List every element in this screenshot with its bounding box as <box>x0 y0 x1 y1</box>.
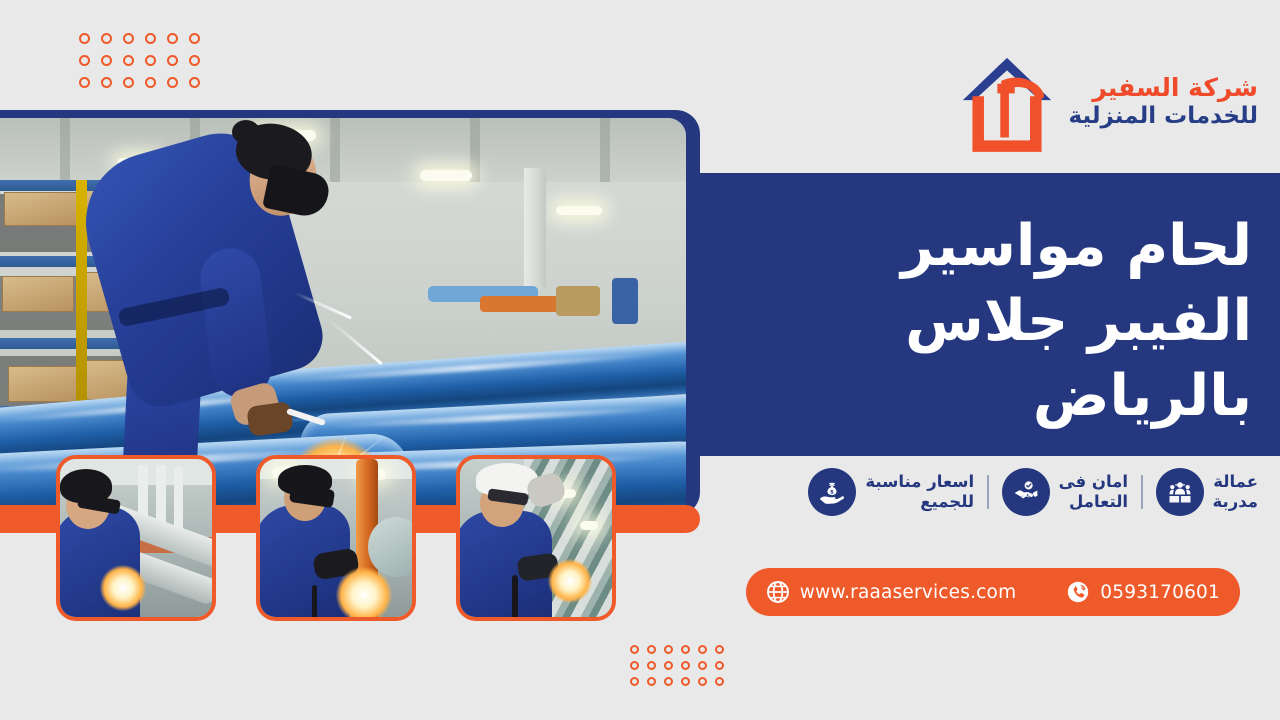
thumb-cable <box>312 585 317 621</box>
dot <box>79 55 90 66</box>
brand-name-primary: شركة السفير <box>1069 74 1259 102</box>
feature-label: اسعار مناسبة للجميع <box>865 472 974 512</box>
feature-safe-dealing: امان فى التعامل <box>1002 468 1128 516</box>
brand-logo[interactable]: شركة السفير للخدمات المنزلية <box>959 52 1259 152</box>
dot <box>145 33 156 44</box>
handshake-check-icon <box>1002 468 1050 516</box>
dot <box>167 55 178 66</box>
equipment <box>612 278 638 324</box>
thumb-spark <box>548 559 592 603</box>
dot <box>681 661 690 670</box>
dot <box>664 645 673 654</box>
equipment <box>556 286 600 316</box>
phone-number: 0593170601 <box>1100 582 1220 603</box>
ceiling-lamp <box>556 206 602 215</box>
decorative-dot-grid-top-left <box>68 33 200 99</box>
features-row: عمالة مدربة امان فى التعامل <box>808 468 1258 516</box>
phone-ringing-icon <box>1066 580 1090 604</box>
dot <box>647 645 656 654</box>
dot <box>167 33 178 44</box>
globe-icon <box>766 580 790 604</box>
headline-panel: لحام مواسير الفيبر جلاس بالرياض <box>700 173 1280 456</box>
dot <box>79 33 90 44</box>
dot <box>145 55 156 66</box>
ceiling-beam <box>60 118 70 182</box>
page-title: لحام مواسير الفيبر جلاس بالرياض <box>718 209 1252 435</box>
dot <box>189 55 200 66</box>
feature-trained-workforce: عمالة مدربة <box>1156 468 1258 516</box>
thumb-spark <box>336 567 392 621</box>
thumbnail-1[interactable] <box>56 455 216 621</box>
feature-fair-prices: اسعار مناسبة للجميع $ <box>808 468 974 516</box>
dot <box>101 77 112 88</box>
brand-logo-text: شركة السفير للخدمات المنزلية <box>1069 74 1259 130</box>
dot <box>630 661 639 670</box>
dot <box>123 33 134 44</box>
cardboard-box <box>8 366 78 402</box>
ceiling-beam <box>330 118 340 182</box>
thumb-pipe-flange <box>368 517 416 577</box>
dot <box>630 677 639 686</box>
dot <box>715 677 724 686</box>
feature-separator <box>1141 475 1143 509</box>
dot <box>189 77 200 88</box>
thumb-window <box>174 467 183 529</box>
dot <box>715 661 724 670</box>
dot <box>123 55 134 66</box>
hand-money-icon: $ <box>808 468 856 516</box>
ceiling-lamp <box>420 170 472 181</box>
feature-label: امان فى التعامل <box>1059 472 1128 512</box>
brand-name-secondary: للخدمات المنزلية <box>1069 104 1259 130</box>
svg-text:$: $ <box>831 489 835 495</box>
dot <box>189 33 200 44</box>
website-url: www.raaaservices.com <box>800 582 1017 603</box>
thumb-cable <box>512 575 518 621</box>
cardboard-box <box>2 276 74 312</box>
dot <box>698 661 707 670</box>
phone-contact[interactable]: 0593170601 <box>1066 580 1220 604</box>
website-contact[interactable]: www.raaaservices.com <box>766 580 1017 604</box>
dot <box>123 77 134 88</box>
dot <box>681 645 690 654</box>
dot <box>664 677 673 686</box>
workers-team-icon <box>1156 468 1204 516</box>
ceiling <box>0 118 686 182</box>
dot <box>681 677 690 686</box>
dot <box>167 77 178 88</box>
cardboard-box <box>4 192 78 226</box>
dot <box>101 55 112 66</box>
dot <box>698 645 707 654</box>
dot <box>664 661 673 670</box>
dot <box>79 77 90 88</box>
dot <box>145 77 156 88</box>
dot <box>647 677 656 686</box>
dot <box>698 677 707 686</box>
feature-label: عمالة مدربة <box>1213 472 1258 512</box>
thumbnail-2[interactable] <box>256 455 416 621</box>
thumbnail-3[interactable] <box>456 455 616 621</box>
feature-separator <box>987 475 989 509</box>
thumb-lamp <box>580 521 598 530</box>
dot <box>630 645 639 654</box>
thumb-spark <box>100 565 146 611</box>
dot <box>715 645 724 654</box>
ceiling-beam <box>600 118 610 182</box>
dot <box>647 661 656 670</box>
welder-hair-bun <box>232 120 260 144</box>
decorative-dot-grid-bottom <box>622 645 724 693</box>
contact-bar: www.raaaservices.com 0593170601 <box>746 568 1240 616</box>
house-hammer-icon <box>959 52 1055 152</box>
dot <box>101 33 112 44</box>
